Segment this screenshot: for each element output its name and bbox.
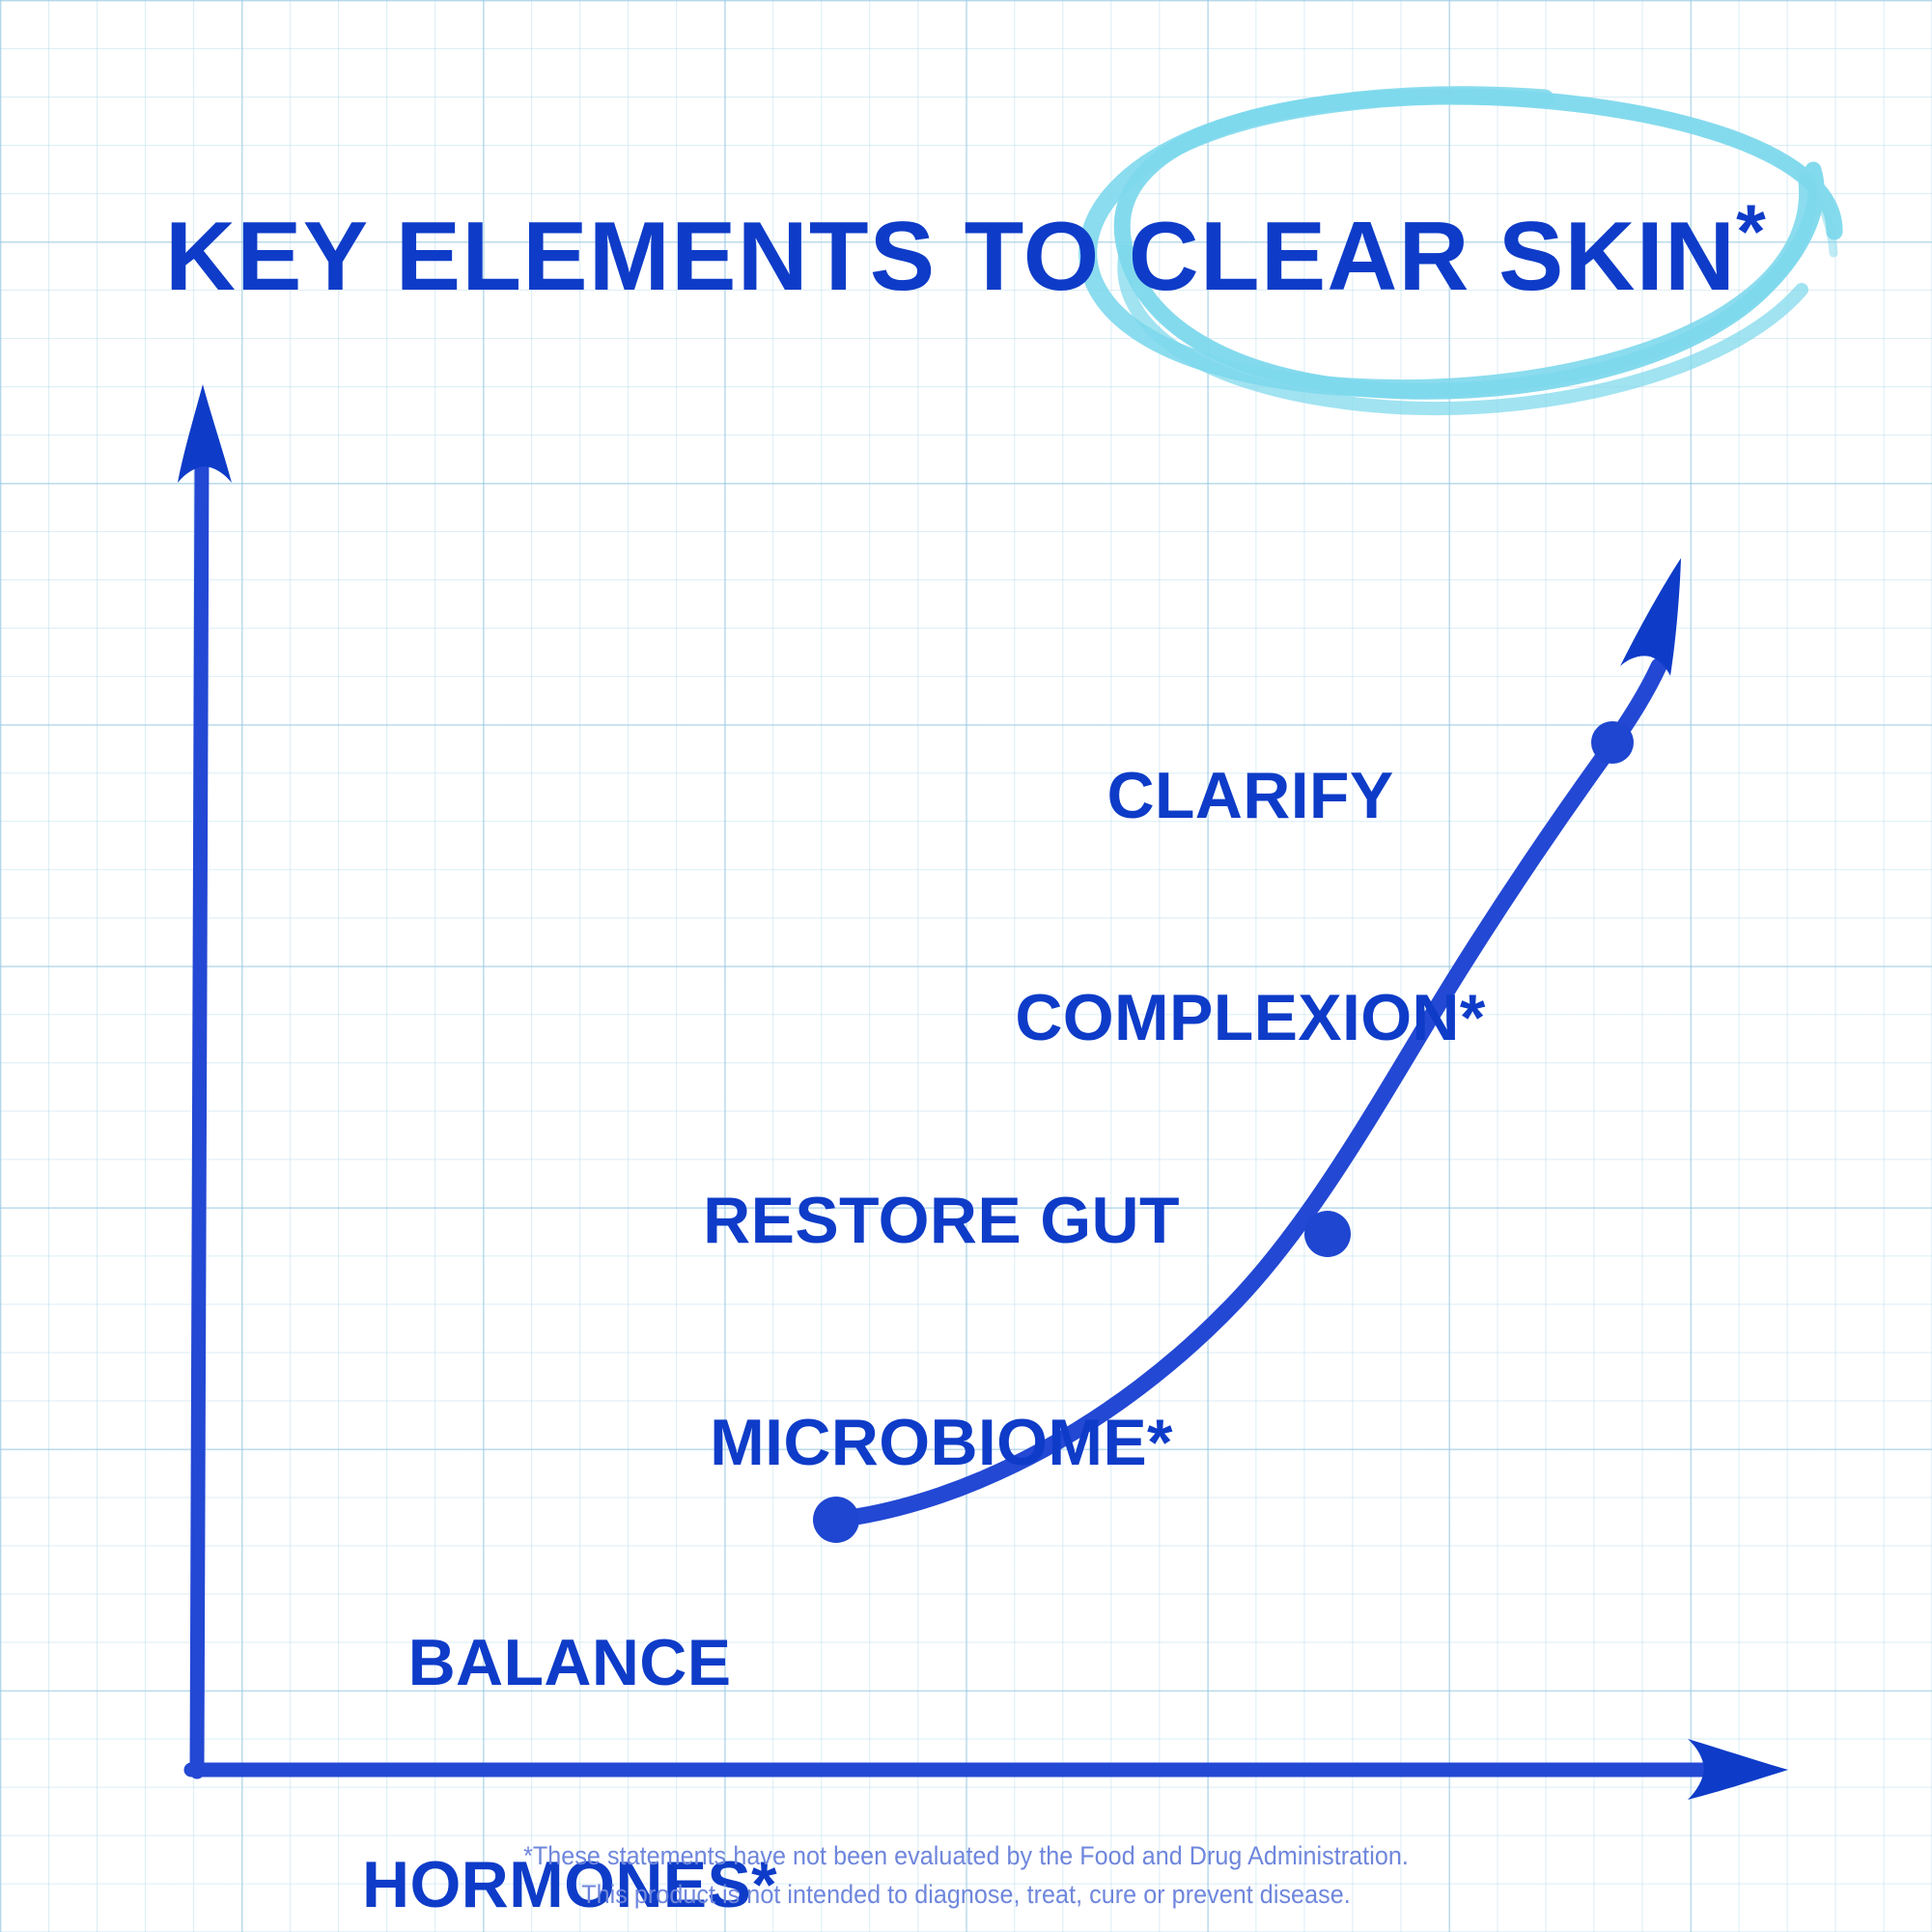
callout-hormones-line-1: BALANCE (169, 1626, 970, 1700)
page-title: KEY ELEMENTS TO CLEAR SKIN* (0, 193, 1932, 307)
infographic-canvas: KEY ELEMENTS TO CLEAR SKIN* CLARIFY COMP… (0, 0, 1932, 1932)
callout-clarify-line-1: CLARIFY (850, 759, 1651, 833)
callout-microbiome-line-2: MICROBIOME* (541, 1406, 1342, 1480)
footnote-line-1: *These statements have not been evaluate… (68, 1837, 1864, 1876)
callout-microbiome-line-1: RESTORE GUT (541, 1184, 1342, 1258)
footnote-line-2: This product is not intended to diagnose… (68, 1876, 1864, 1915)
page-title-asterisk: * (1736, 189, 1767, 274)
page-title-text: KEY ELEMENTS TO CLEAR SKIN (165, 203, 1736, 311)
footnote-disclaimer: *These statements have not been evaluate… (68, 1837, 1864, 1915)
